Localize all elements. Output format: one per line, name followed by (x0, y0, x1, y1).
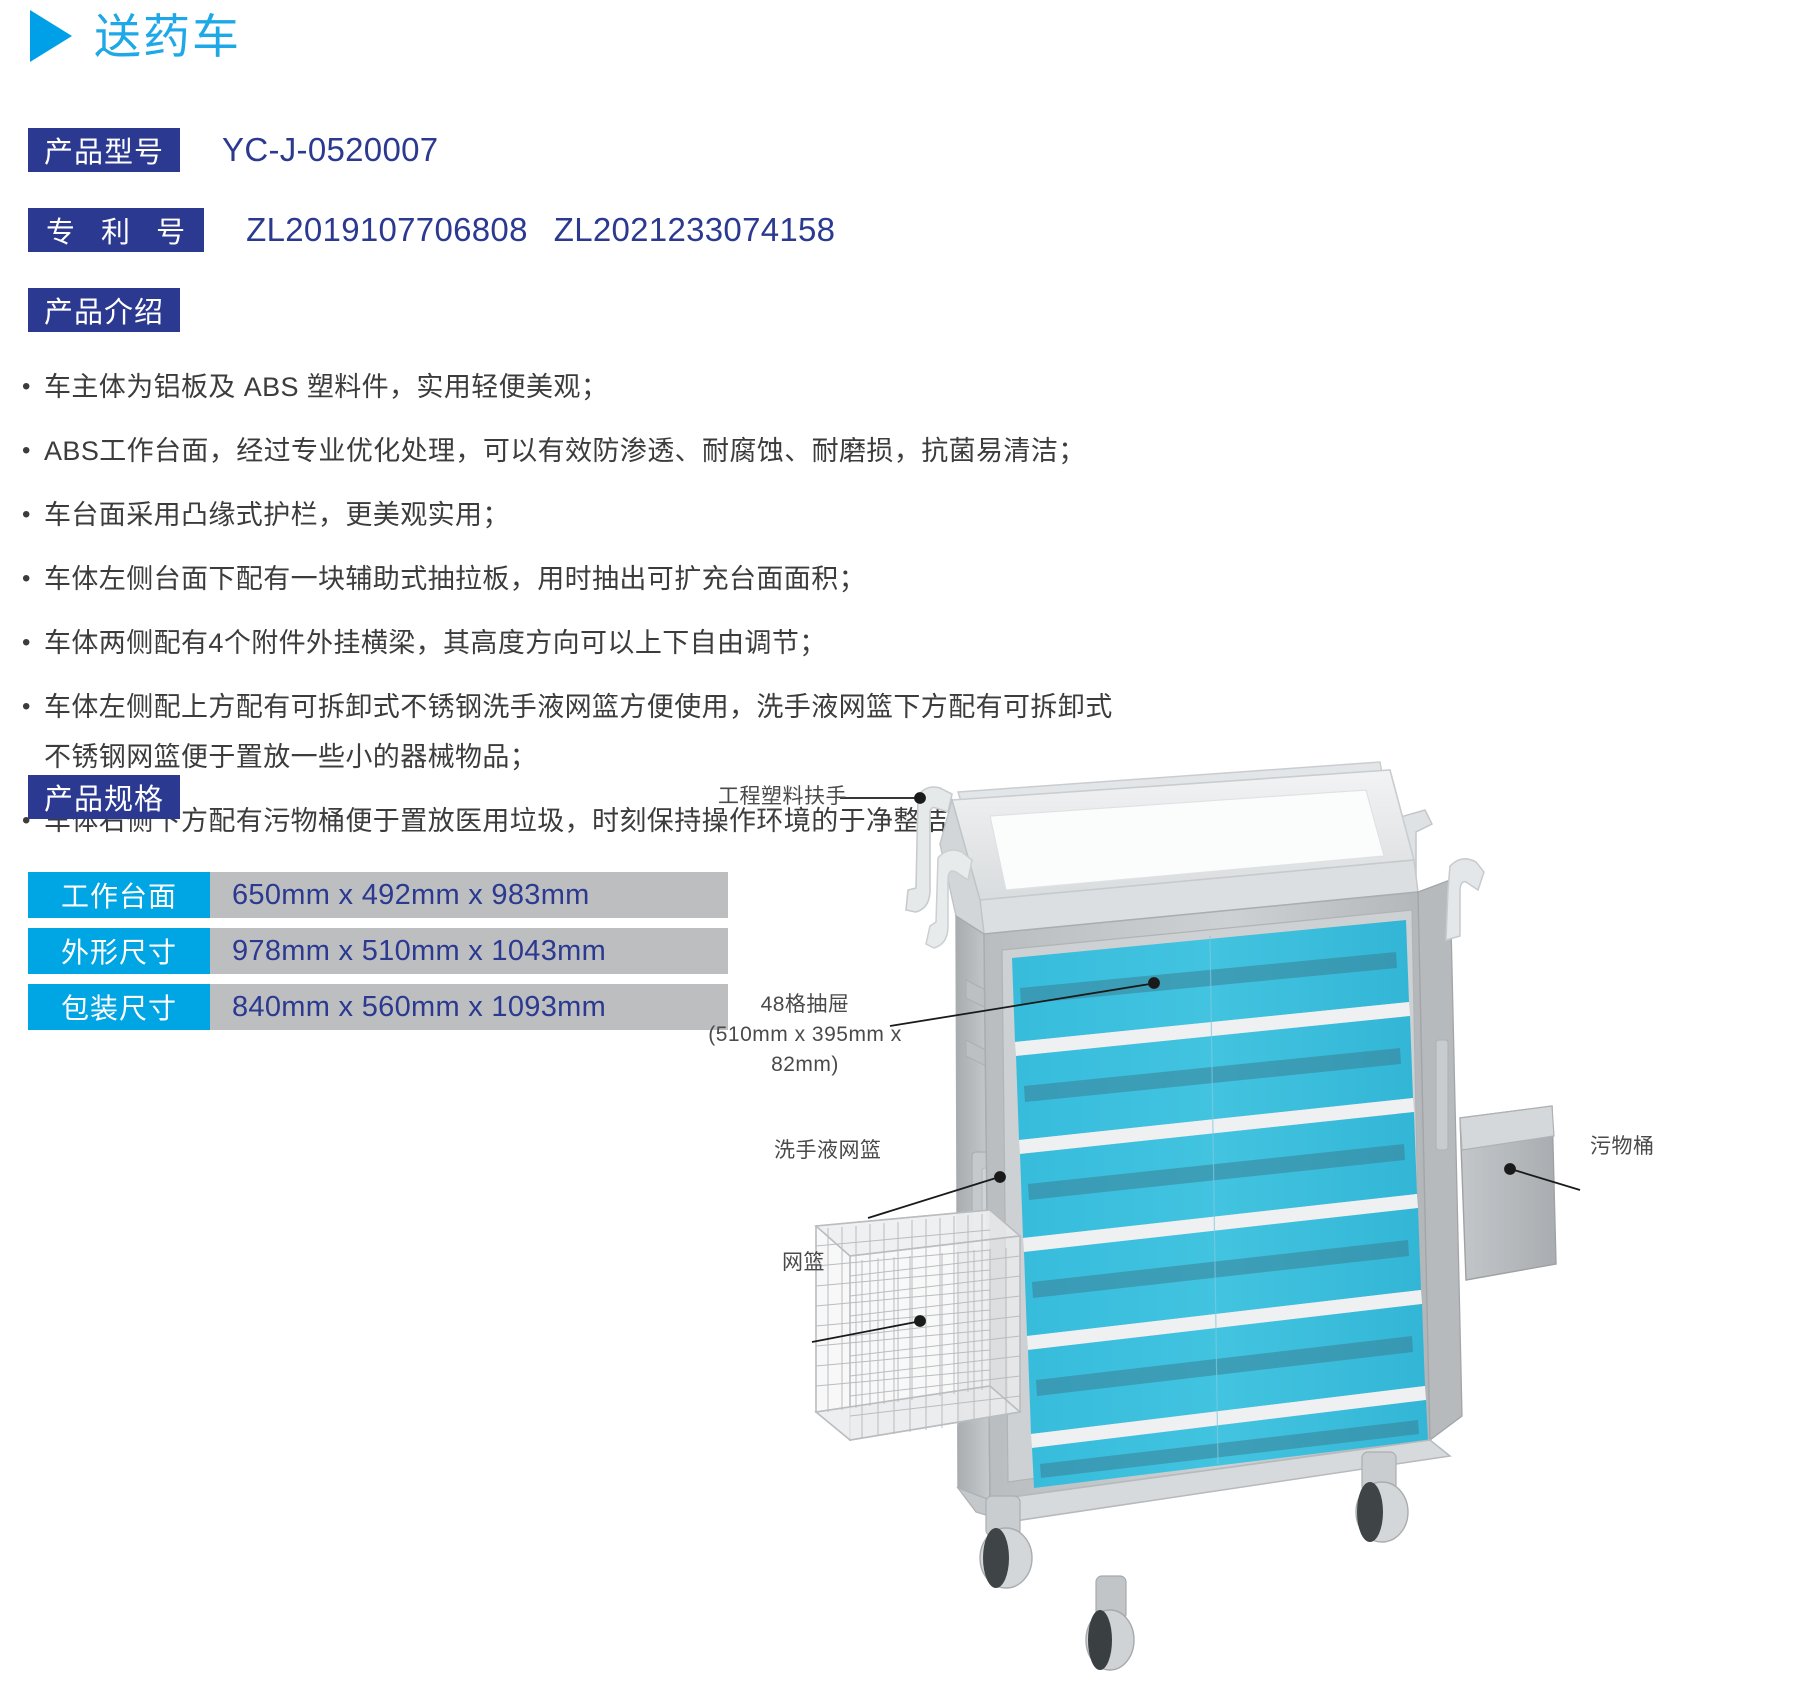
table-row: 包装尺寸 840mm x 560mm x 1093mm (28, 984, 728, 1030)
section-header-specs: 产品规格 (28, 775, 180, 819)
list-item: • 车体两侧配有4个附件外挂横梁，其高度方向可以上下自由调节； (22, 618, 1482, 668)
list-item: • 车台面采用凸缘式护栏，更美观实用； (22, 490, 1482, 540)
list-item-text: ABS工作台面，经过专业优化处理，可以有效防渗透、耐腐蚀、耐磨损，抗菌易清洁； (44, 426, 1482, 476)
bullet-dot-icon: • (22, 682, 44, 732)
list-item-text-line1: 车体左侧配上方配有可拆卸式不锈钢洗手液网篮方便使用，洗手液网篮下方配有可拆卸式 (44, 682, 1482, 732)
patent-number-values: ZL2019107706808ZL2021233074158 (246, 211, 835, 249)
callout-label-wire-basket: 网篮 (782, 1248, 825, 1278)
callout-label-drawer-title: 48格抽屉 (680, 990, 930, 1020)
list-item: • 车主体为铝板及 ABS 塑料件，实用轻便美观； (22, 362, 1482, 412)
page-title-text: 送药车 (94, 13, 241, 60)
callout-label-drawer: 48格抽屉 (510mm x 395mm x 82mm) (680, 990, 930, 1080)
medicine-cart-image (690, 740, 1798, 1700)
bullet-dot-icon: • (22, 554, 44, 604)
spec-key: 工作台面 (28, 872, 210, 918)
product-model-row: 产品型号 YC-J-0520007 (28, 128, 438, 172)
waste-bin (1460, 1106, 1556, 1280)
product-illustration: 工程塑料扶手 48格抽屉 (510mm x 395mm x 82mm) 洗手液网… (690, 740, 1798, 1700)
caster-wheel-front-right (1356, 1452, 1408, 1542)
patent-number-row: 专 利 号 ZL2019107706808ZL2021233074158 (28, 208, 835, 252)
callout-label-drawer-dimensions: (510mm x 395mm x 82mm) (680, 1020, 930, 1080)
drawer-stack (1012, 920, 1428, 1488)
table-row: 工作台面 650mm x 492mm x 983mm (28, 872, 728, 918)
play-triangle-icon (30, 10, 72, 62)
product-model-value: YC-J-0520007 (222, 131, 438, 169)
list-item-text: 车体左侧台面下配有一块辅助式抽拉板，用时抽出可扩充台面面积； (44, 554, 1482, 604)
list-item-text: 车体两侧配有4个附件外挂横梁，其高度方向可以上下自由调节； (44, 618, 1482, 668)
product-model-label: 产品型号 (28, 128, 180, 172)
spec-key: 包装尺寸 (28, 984, 210, 1030)
callout-label-waste-bin: 污物桶 (1590, 1132, 1655, 1162)
bullet-dot-icon: • (22, 618, 44, 668)
list-item: • ABS工作台面，经过专业优化处理，可以有效防渗透、耐腐蚀、耐磨损，抗菌易清洁… (22, 426, 1482, 476)
spec-value: 650mm x 492mm x 983mm (210, 872, 728, 918)
caster-wheel-rear-left (1086, 1576, 1134, 1670)
patent-number-label: 专 利 号 (28, 208, 204, 252)
list-item-text: 车台面采用凸缘式护栏，更美观实用； (44, 490, 1482, 540)
list-item-text: 车主体为铝板及 ABS 塑料件，实用轻便美观； (44, 362, 1482, 412)
spec-key: 外形尺寸 (28, 928, 210, 974)
page-title: 送药车 (30, 10, 241, 62)
callout-label-handle: 工程塑料扶手 (718, 782, 847, 812)
table-row: 外形尺寸 978mm x 510mm x 1043mm (28, 928, 728, 974)
patent-number-2: ZL2021233074158 (554, 211, 836, 248)
callout-label-sanitizer-basket: 洗手液网篮 (774, 1136, 882, 1166)
bullet-dot-icon: • (22, 426, 44, 476)
section-header-intro: 产品介绍 (28, 288, 180, 332)
bullet-dot-icon: • (22, 362, 44, 412)
bullet-dot-icon: • (22, 490, 44, 540)
spec-value: 840mm x 560mm x 1093mm (210, 984, 728, 1030)
specifications-table: 工作台面 650mm x 492mm x 983mm 外形尺寸 978mm x … (28, 872, 728, 1040)
list-item: • 车体左侧台面下配有一块辅助式抽拉板，用时抽出可扩充台面面积； (22, 554, 1482, 604)
spec-value: 978mm x 510mm x 1043mm (210, 928, 728, 974)
patent-number-1: ZL2019107706808 (246, 211, 528, 248)
